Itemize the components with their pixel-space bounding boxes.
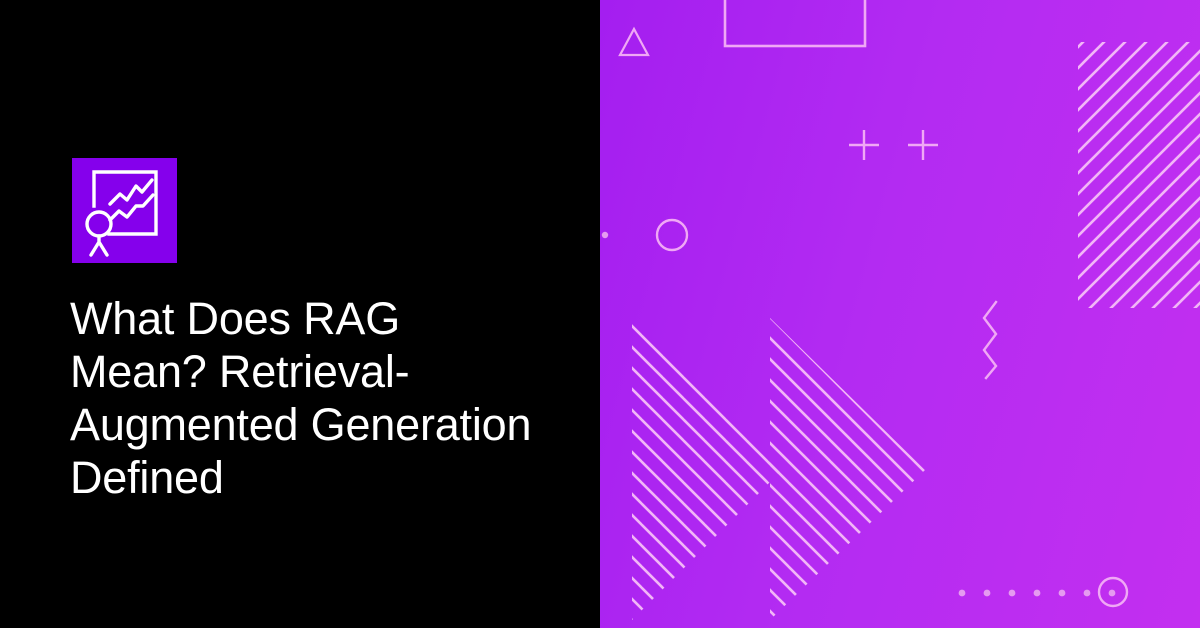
zigzag-line-icon	[984, 302, 996, 378]
plus-mark-left-icon	[849, 130, 879, 160]
presentation-chart-person-icon	[72, 158, 177, 263]
plus-mark-right-icon	[908, 130, 938, 160]
triangle-outline-icon	[620, 29, 648, 55]
dot-row	[959, 590, 1116, 597]
rectangle-outline-icon	[725, 0, 865, 46]
page-title: What Does RAG Mean? Retrieval- Augmented…	[70, 292, 540, 504]
decorative-purple-panel	[600, 0, 1200, 628]
small-dot-icon	[602, 232, 608, 238]
left-content-panel: What Does RAG Mean? Retrieval- Augmented…	[0, 0, 600, 628]
hatched-rectangle-top-right	[1070, 34, 1200, 316]
decorative-shapes-group	[600, 0, 1200, 628]
article-hero-banner: What Does RAG Mean? Retrieval- Augmented…	[0, 0, 1200, 628]
circle-outline-mid-icon	[657, 220, 687, 250]
hatched-triangle-right	[760, 310, 940, 628]
